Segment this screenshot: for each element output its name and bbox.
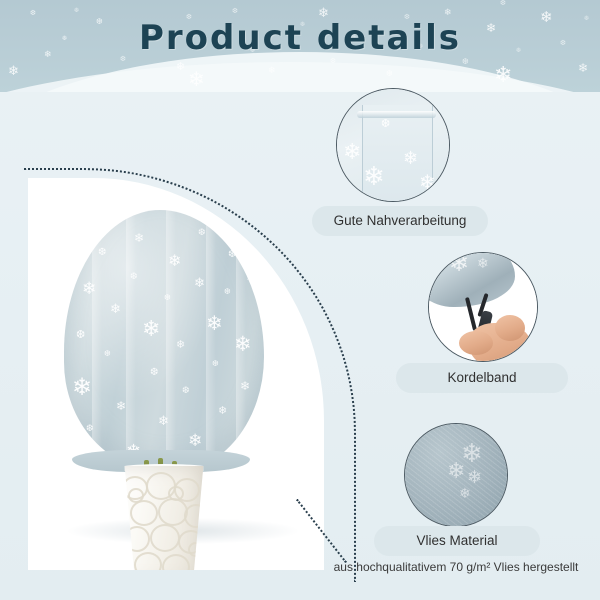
snowflake-icon: ❆ xyxy=(74,8,79,14)
snowflake-icon: ❄ xyxy=(188,70,205,90)
snowflake-icon: ❆ xyxy=(232,8,238,15)
snowflake-icon: ❆ xyxy=(30,10,36,17)
ceramic-pot xyxy=(116,466,212,570)
snowflake-icon: ❄ xyxy=(176,62,185,73)
snowflake-icon: ❆ xyxy=(386,70,393,78)
snowflake-icon: ❄ xyxy=(494,64,512,86)
snowflake-icon: ❄ xyxy=(268,66,276,75)
finger xyxy=(495,315,525,341)
product-fleece-cover: ❄ ❆ ❄ ❆ ❆ ❄ ❆ ❄ ❄ ❄ ❆ ❄ ❆ ❄ ❄ ❆ ❄ ❆ ❄ ❆ … xyxy=(64,210,264,472)
snowflake-icon: ❆ xyxy=(462,58,469,66)
detail-item-seam: ❄ ❄ ❄ ❄ ❆ xyxy=(336,88,450,202)
fleece-photo-circle[interactable]: ❄ ❄ ❄ ❄ xyxy=(404,423,508,527)
snowflake-icon: ❆ xyxy=(330,58,336,65)
snowflake-icon: ❄ xyxy=(444,8,452,17)
product-image-panel: ❄ ❆ ❄ ❆ ❆ ❄ ❆ ❄ ❄ ❄ ❆ ❄ ❆ ❄ ❄ ❆ ❄ ❆ ❄ ❆ … xyxy=(28,178,324,570)
detail-caption-fleece: aus hochqualitativem 70 g/m² Vlies herge… xyxy=(320,560,592,574)
snowflake-icon: ❆ xyxy=(500,0,506,7)
finger xyxy=(459,331,493,355)
drawstring-photo-circle[interactable]: ❄ ❄ xyxy=(428,252,538,362)
product-details-infographic: ❄ ❆ ❆ ❄ ❆ ❆ ❆ ❆ ❄ ❆ ❆ ❄ ❆ ❄ ❆ ❄ ❆ ❆ ❆ ❆ … xyxy=(0,0,600,600)
detail-label-seam: Gute Nahverarbeitung xyxy=(312,206,488,236)
snowflake-icon: ❄ xyxy=(578,62,588,74)
seam-photo-circle[interactable]: ❄ ❄ ❄ ❄ ❆ xyxy=(336,88,450,202)
snowflake-icon: ❄ xyxy=(8,64,19,77)
detail-item-drawstring: ❄ ❄ xyxy=(428,252,538,362)
page-title: Product details xyxy=(0,18,600,58)
detail-label-drawstring: Kordelband xyxy=(396,363,568,393)
detail-label-fleece: Vlies Material xyxy=(374,526,540,556)
detail-item-fleece: ❄ ❄ ❄ ❄ xyxy=(404,423,508,527)
